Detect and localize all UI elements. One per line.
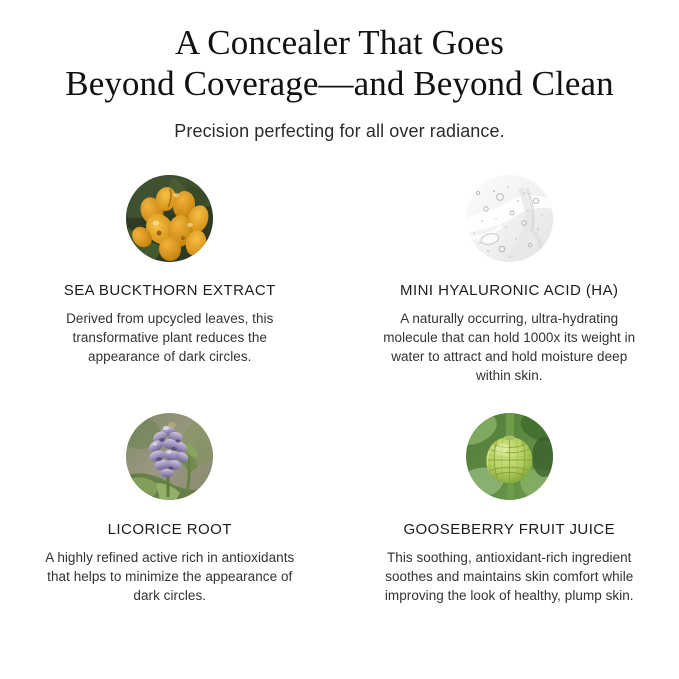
ingredient-card-sea-buckthorn: SEA BUCKTHORN EXTRACT Derived from upcyc…: [0, 175, 340, 385]
ingredient-card-hyaluronic-acid: MINI HYALURONIC ACID (HA) A naturally oc…: [340, 175, 679, 385]
ingredient-card-licorice-root: LICORICE ROOT A highly refined active ri…: [0, 413, 340, 605]
ingredient-description: Derived from upcycled leaves, this trans…: [41, 309, 299, 366]
ingredient-title: LICORICE ROOT: [108, 521, 232, 539]
page-subtitle: Precision perfecting for all over radian…: [0, 119, 679, 143]
headline-line-2: Beyond Coverage—and Beyond Clean: [35, 63, 644, 104]
ingredient-benefits-page: A Concealer That Goes Beyond Coverage—an…: [0, 0, 679, 679]
ingredient-description: A naturally occurring, ultra-hydrating m…: [380, 309, 638, 385]
ingredient-title: MINI HYALURONIC ACID (HA): [400, 282, 619, 300]
ingredient-title: SEA BUCKTHORN EXTRACT: [64, 282, 276, 300]
ingredient-description: A highly refined active rich in antioxid…: [41, 548, 299, 605]
licorice-root-flower-photo: [126, 413, 213, 500]
ingredient-description: This soothing, antioxidant-rich ingredie…: [380, 548, 638, 605]
ingredient-grid: SEA BUCKTHORN EXTRACT Derived from upcyc…: [0, 175, 679, 605]
sea-buckthorn-berries-photo: [126, 175, 213, 262]
page-title: A Concealer That Goes Beyond Coverage—an…: [0, 22, 679, 104]
ingredient-title: GOOSEBERRY FRUIT JUICE: [403, 521, 615, 539]
hyaluronic-acid-gel-texture-photo: [466, 175, 553, 262]
ingredient-card-gooseberry: GOOSEBERRY FRUIT JUICE This soothing, an…: [340, 413, 679, 605]
gooseberry-fruit-photo: [466, 413, 553, 500]
headline-line-1: A Concealer That Goes: [35, 22, 644, 63]
header: A Concealer That Goes Beyond Coverage—an…: [0, 0, 679, 143]
